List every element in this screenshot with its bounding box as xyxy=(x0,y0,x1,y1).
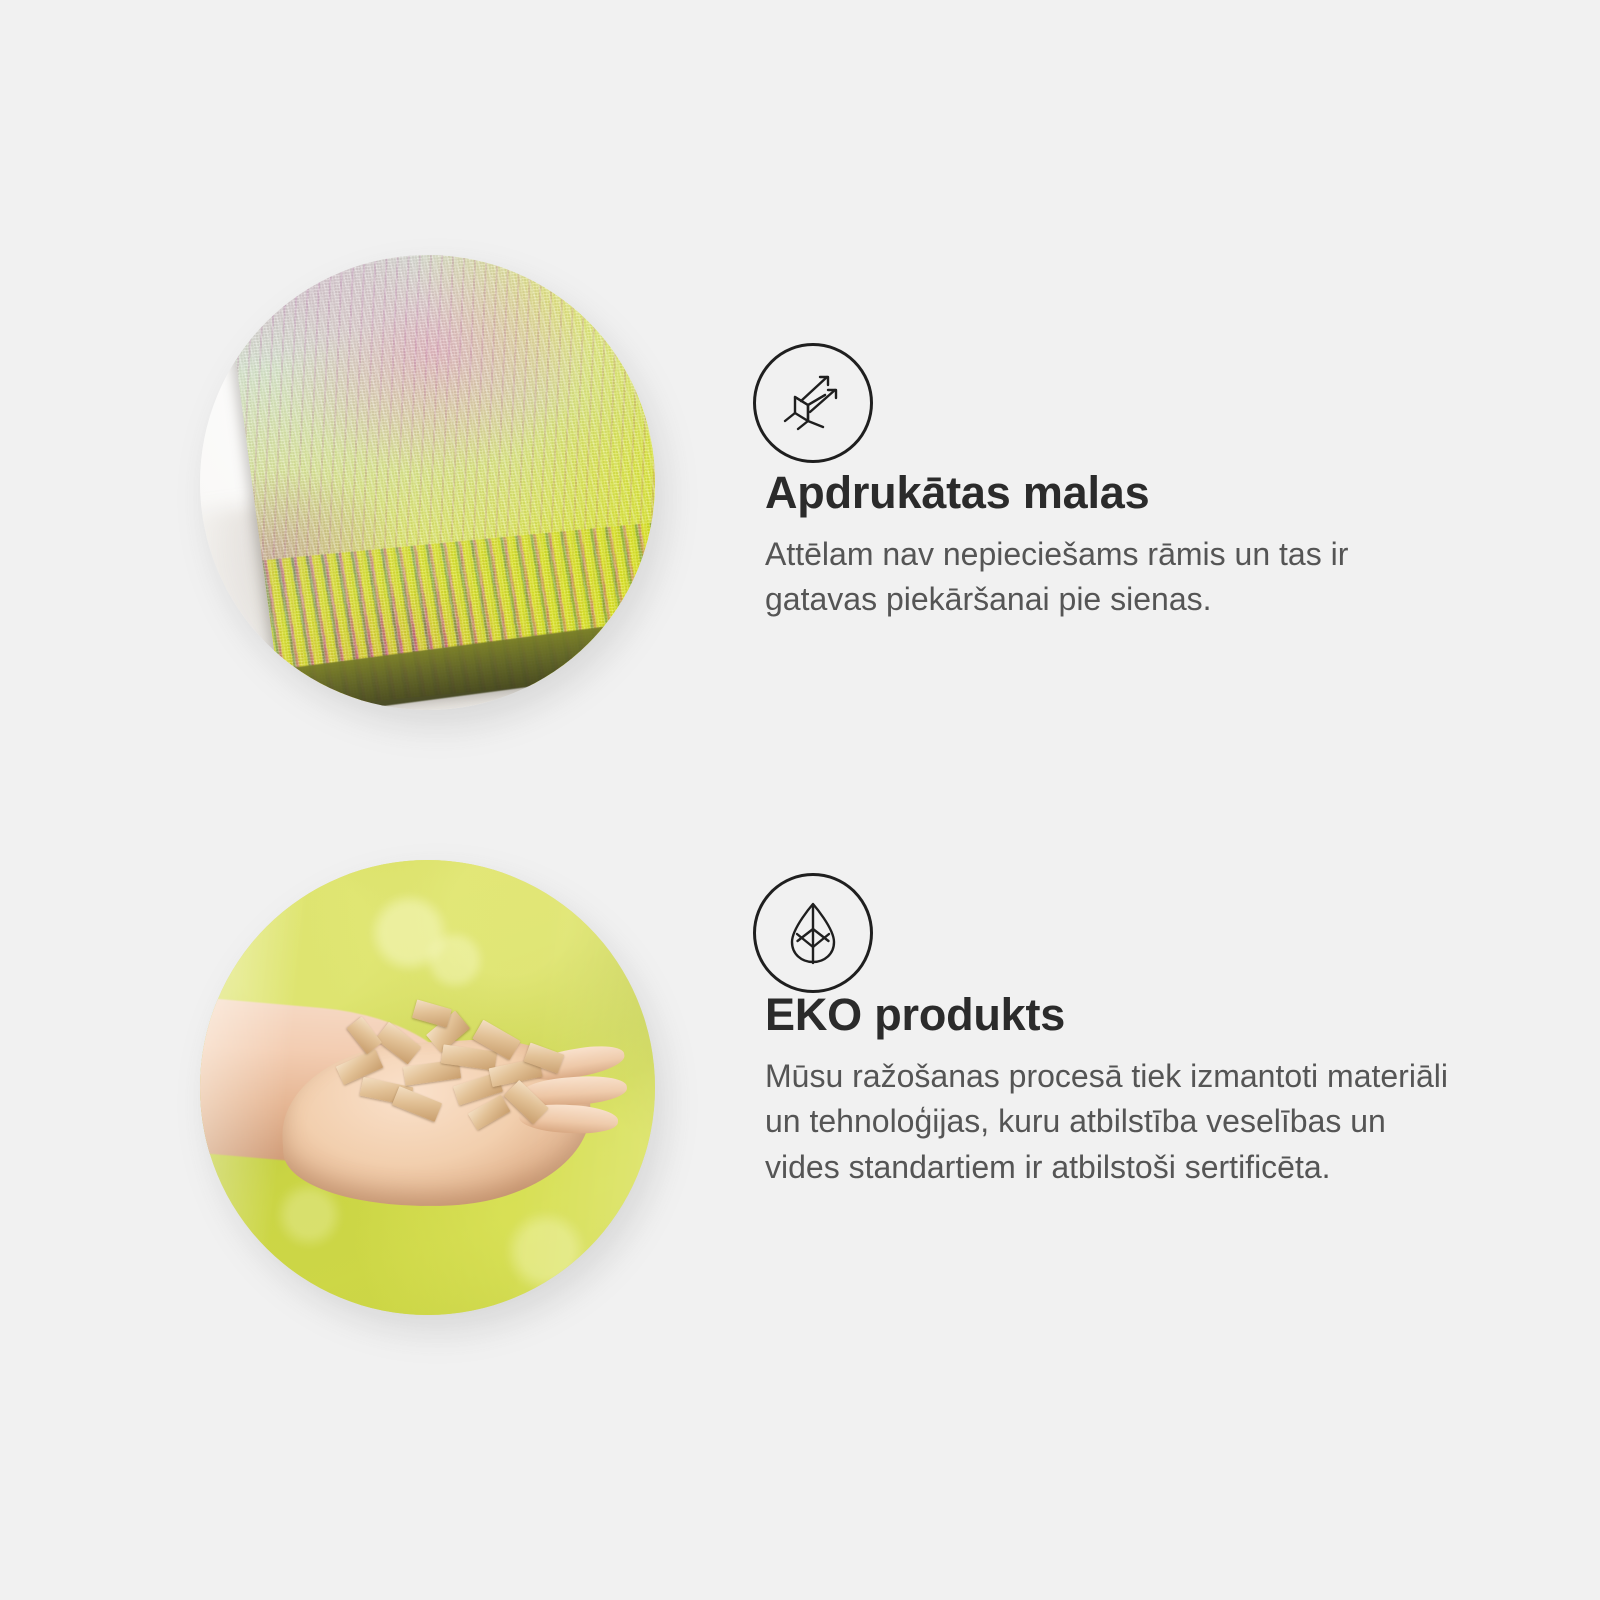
printed-edges-glyph xyxy=(775,365,851,441)
feature-eco-product: EKO produkts Mūsu ražošanas procesā tiek… xyxy=(0,845,1600,1365)
printed-edges-icon xyxy=(753,343,873,463)
leaf-glyph xyxy=(775,895,851,971)
canvas-corner-photo-circle xyxy=(200,255,655,710)
wood-chips-photo-circle xyxy=(200,860,655,1315)
feature-description: Mūsu ražošanas procesā tiek izmantoti ma… xyxy=(765,1054,1465,1190)
canvas-corner-photo xyxy=(200,255,655,710)
feature-title: EKO produkts xyxy=(765,990,1065,1040)
feature-highlights-page: Apdrukātas malas Attēlam nav nepieciešam… xyxy=(0,0,1600,1600)
wood-chips-in-hands-photo xyxy=(200,860,655,1315)
feature-printed-edges: Apdrukātas malas Attēlam nav nepieciešam… xyxy=(0,240,1600,760)
feature-title: Apdrukātas malas xyxy=(765,468,1149,518)
leaf-icon xyxy=(753,873,873,993)
feature-description: Attēlam nav nepieciešams rāmis un tas ir… xyxy=(765,532,1465,623)
wood-chips xyxy=(327,992,582,1147)
